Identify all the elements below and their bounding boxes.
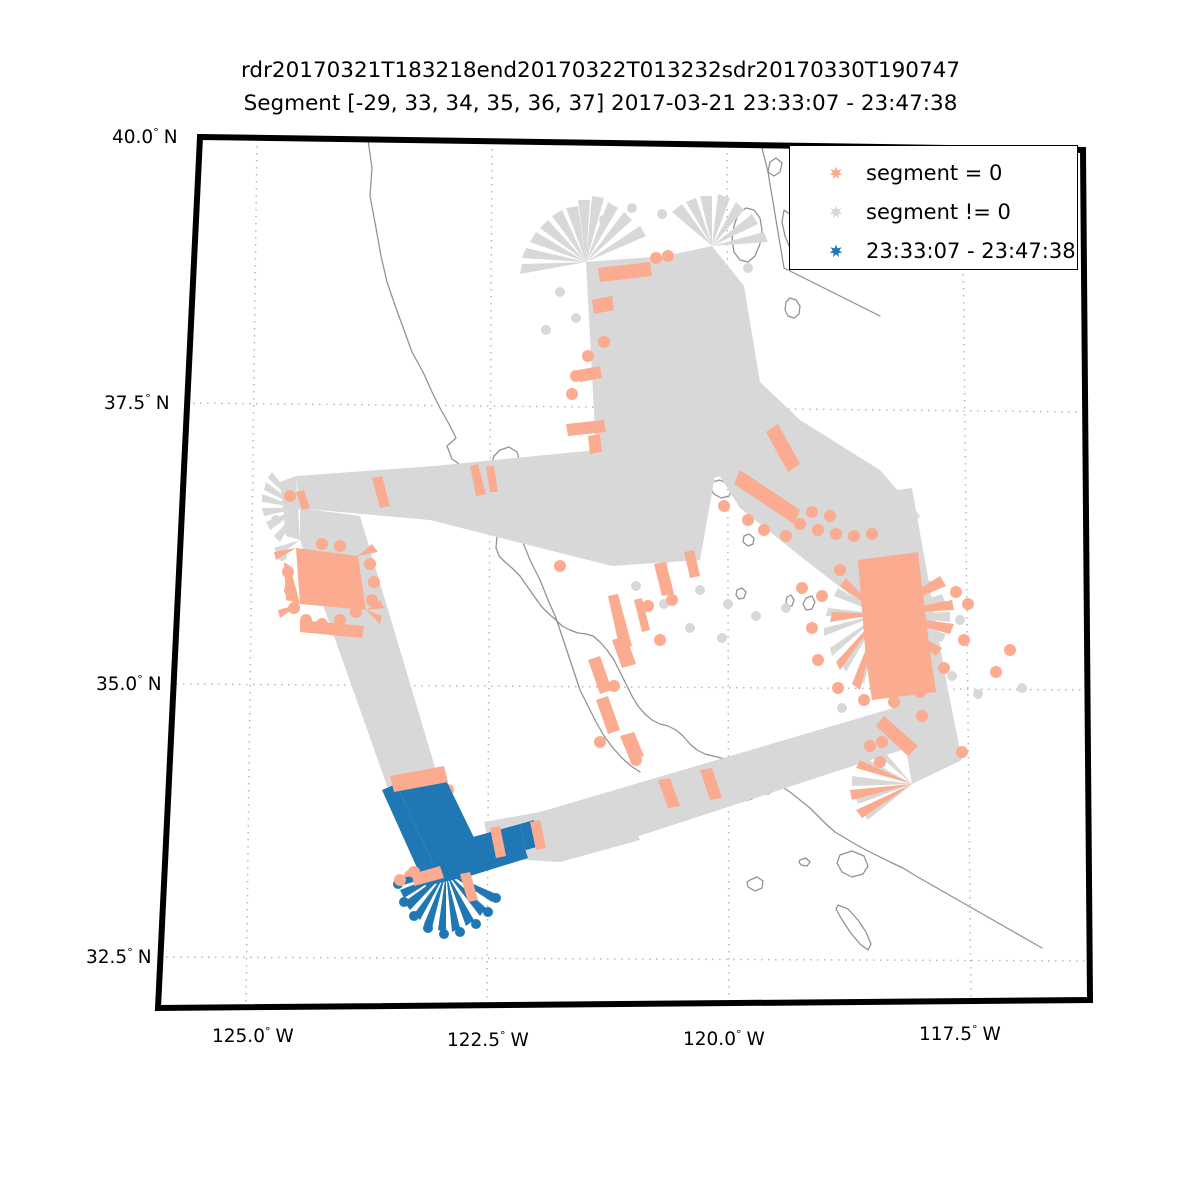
y-tick-37.5: 37.5°N [104,393,170,414]
legend-label-segment-zero: segment = 0 [866,163,1002,184]
star-marker-icon [829,166,843,180]
legend-label-time-range: 23:33:07 - 23:47:38 [866,241,1076,262]
y-tick-40.0: 40.0°N [112,127,178,148]
x-tick-117.5: 117.5°W [919,1024,1001,1045]
legend-item-time-range[interactable]: 23:33:07 - 23:47:38 [790,231,1079,271]
y-tick-32.5: 32.5°N [86,947,152,968]
star-marker-icon [829,205,843,219]
star-marker-icon [829,244,843,258]
legend-box: segment = 0 segment != 0 23:33:07 - 23:4… [789,145,1078,270]
legend-label-segment-nonzero: segment != 0 [866,202,1011,223]
figure-root: rdr20170321T183218end20170322T013232sdr2… [0,0,1201,1201]
legend-item-segment-nonzero[interactable]: segment != 0 [790,192,1079,232]
x-tick-120.0: 120.0°W [683,1029,765,1050]
legend-item-segment-zero[interactable]: segment = 0 [790,153,1079,193]
x-tick-122.5: 122.5°W [447,1030,529,1051]
y-tick-35.0: 35.0°N [96,674,162,695]
x-tick-125.0: 125.0°W [212,1026,294,1047]
